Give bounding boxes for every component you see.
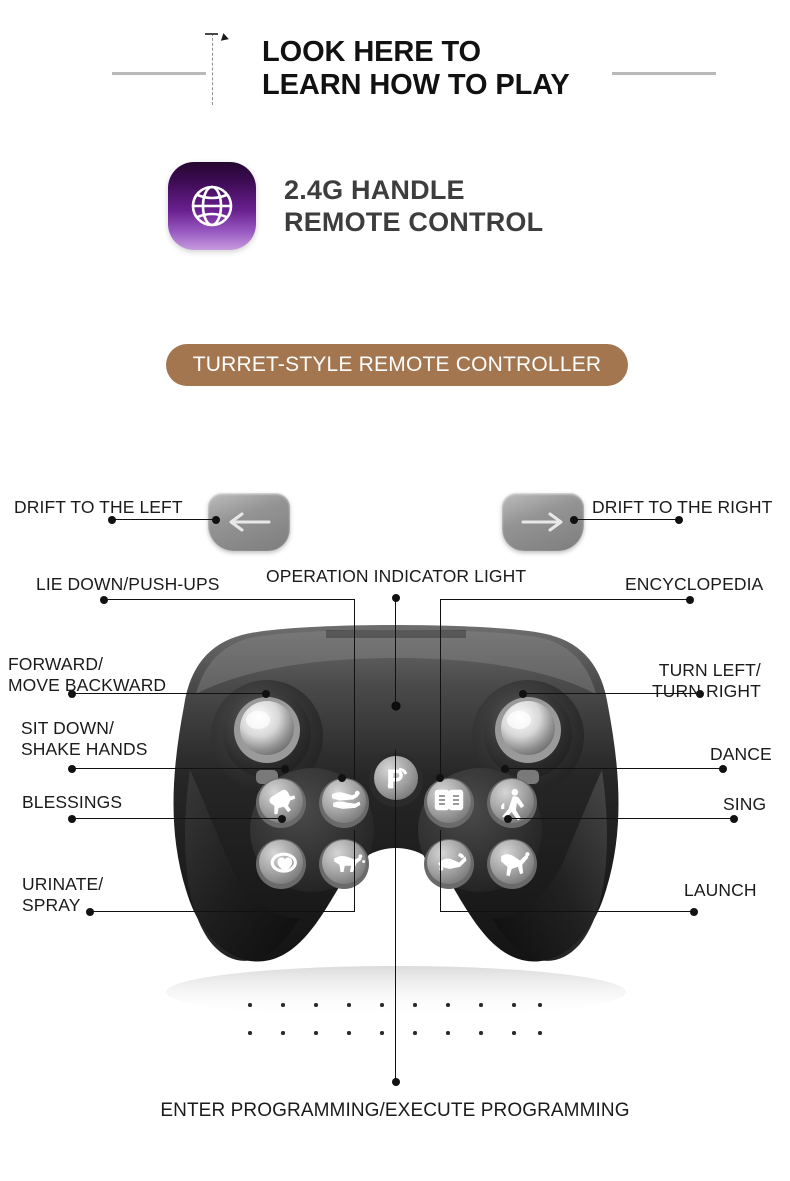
leader-urinate-spray	[90, 911, 355, 912]
brand-title: 2.4G HANDLE REMOTE CONTROL	[284, 174, 543, 238]
label-launch: LAUNCH	[684, 880, 757, 901]
header-pointer-icon	[221, 33, 230, 43]
leader-dot	[504, 815, 512, 823]
leader-dot	[392, 594, 400, 602]
brand-block: 2.4G HANDLE REMOTE CONTROL	[168, 162, 543, 250]
leader-dot	[436, 774, 444, 782]
leader-dot	[338, 774, 346, 782]
label-forward-move-backward: FORWARD/ MOVE BACKWARD	[8, 654, 166, 696]
label-sit-down-shake-hands: SIT DOWN/ SHAKE HANDS	[21, 718, 148, 760]
page-title-line2: LEARN HOW TO PLAY	[262, 69, 732, 102]
leader-lie-down-drop	[354, 599, 355, 779]
label-urinate-spray: URINATE/ SPRAY	[22, 874, 103, 916]
leader-dot	[501, 765, 509, 773]
label-operation-indicator-light: OPERATION INDICATOR LIGHT	[266, 566, 526, 587]
leader-dot	[212, 516, 220, 524]
brand-title-line1: 2.4G HANDLE	[284, 174, 543, 206]
lie-down-pushups-button	[319, 778, 369, 828]
leader-dot	[686, 596, 694, 604]
leader-dance	[505, 768, 723, 769]
encyclopedia-button	[424, 778, 474, 828]
blessings-button	[256, 839, 306, 889]
leader-sit-shake	[72, 768, 287, 769]
leader-dot	[68, 765, 76, 773]
label-encyclopedia: ENCYCLOPEDIA	[625, 574, 763, 595]
leader-lie-down	[104, 599, 355, 600]
leader-launch	[440, 911, 694, 912]
leader-dot	[570, 516, 578, 524]
label-lie-down-pushups: LIE DOWN/PUSH-UPS	[36, 574, 220, 595]
leader-dot	[68, 815, 76, 823]
leader-dot	[100, 596, 108, 604]
brand-title-line2: REMOTE CONTROL	[284, 206, 543, 238]
leader-indicator	[395, 600, 396, 708]
globe-icon	[168, 162, 256, 250]
dot-row-bottom	[248, 1031, 542, 1035]
leader-dot	[392, 1078, 400, 1086]
left-button-cluster	[250, 768, 374, 892]
product-instruction-page: LOOK HERE TO LEARN HOW TO PLAY 2.4G HAND…	[0, 0, 790, 1181]
sing-button	[424, 839, 474, 889]
page-title-line1: LOOK HERE TO	[262, 36, 732, 69]
label-enter-programming: ENTER PROGRAMMING/EXECUTE PROGRAMMING	[0, 1100, 790, 1122]
dot-row-top	[248, 1003, 542, 1007]
launch-button	[487, 839, 537, 889]
dance-button	[487, 778, 537, 828]
banner-turret-style: TURRET-STYLE REMOTE CONTROLLER	[166, 344, 628, 386]
leader-dot	[281, 765, 289, 773]
label-drift-to-the-left: DRIFT TO THE LEFT	[14, 497, 183, 518]
leader-urinate-drop	[354, 830, 355, 912]
label-turn-left-turn-right: TURN LEFT/ TURN RIGHT	[652, 660, 761, 702]
label-sing: SING	[723, 794, 766, 815]
label-blessings: BLESSINGS	[22, 792, 122, 813]
leader-drift-left	[112, 519, 216, 520]
leader-encyclopedia	[440, 599, 690, 600]
leader-dot	[730, 815, 738, 823]
leader-dot	[719, 765, 727, 773]
label-drift-to-the-right: DRIFT TO THE RIGHT	[592, 497, 772, 518]
leader-dot	[278, 815, 286, 823]
arrow-right-icon	[520, 511, 566, 533]
header-tick-mark	[205, 33, 218, 35]
leader-launch-drop	[440, 830, 441, 912]
leader-drift-right	[574, 519, 679, 520]
leader-encyclopedia-drop	[440, 599, 441, 779]
leader-dot	[262, 690, 270, 698]
urinate-spray-button	[319, 839, 369, 889]
leader-dot	[690, 908, 698, 916]
leader-dot	[519, 690, 527, 698]
label-dance: DANCE	[710, 744, 772, 765]
arrow-left-icon	[226, 511, 272, 533]
leader-sing	[508, 818, 734, 819]
page-title: LOOK HERE TO LEARN HOW TO PLAY	[262, 36, 732, 102]
leader-blessings	[72, 818, 284, 819]
header-rule-left	[112, 72, 206, 75]
shoulder-button-left[interactable]	[208, 493, 290, 551]
header-dashed-divider	[212, 33, 213, 105]
right-button-cluster	[418, 768, 542, 892]
